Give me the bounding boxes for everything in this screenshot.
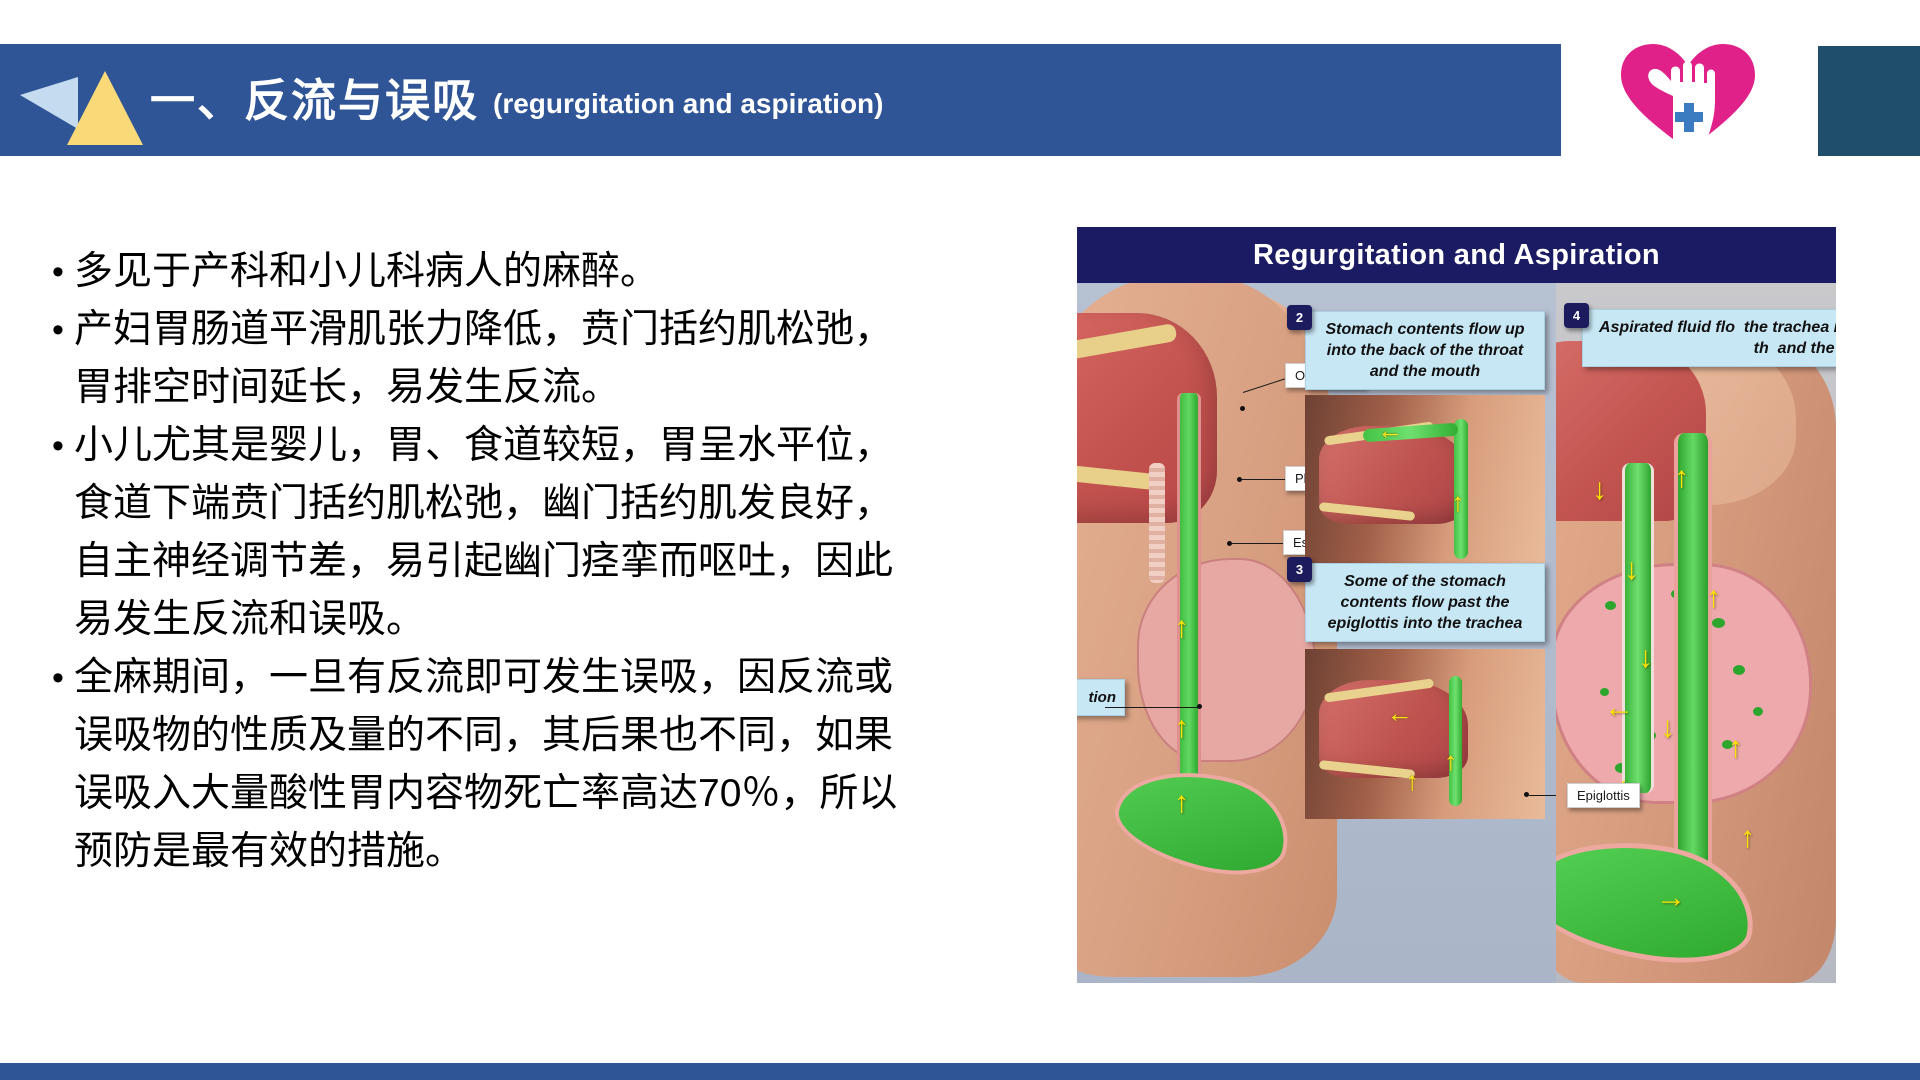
caption-step-4: Aspirated fluid flo the trachea into th … bbox=[1582, 309, 1836, 367]
flow-arrow-up-icon: ↑ bbox=[1406, 768, 1419, 794]
bullet-line: 食道下端贲门括约肌松弛，幽门括约肌发良好， bbox=[74, 475, 1052, 533]
leader-dot bbox=[1524, 792, 1529, 797]
caption-step-3: Some of the stomach contents flow past t… bbox=[1305, 563, 1545, 642]
flow-arrow-up-icon: ↑ bbox=[1174, 713, 1189, 743]
inset-green-tube-3 bbox=[1449, 676, 1462, 806]
bullet-line: 产妇胃肠道平滑肌张力降低，贲门括约肌松弛， bbox=[74, 301, 1052, 359]
illustration-title: Regurgitation and Aspiration bbox=[1077, 227, 1836, 283]
label-epiglottis: Epiglottis bbox=[1567, 783, 1640, 808]
bullet-line: 全麻期间，一旦有反流即可发生误吸，因反流或 bbox=[74, 649, 1052, 707]
flow-arrow-right-icon: → bbox=[1656, 883, 1686, 913]
flow-arrow-down-icon: ↓ bbox=[1638, 643, 1653, 673]
list-item: • 产妇胃肠道平滑肌张力降低，贲门括约肌松弛， 胃排空时间延长，易发生反流。 bbox=[52, 301, 1052, 417]
flow-arrow-left-icon: ← bbox=[1604, 693, 1634, 723]
anatomy-lung bbox=[1137, 558, 1316, 762]
anatomy-esophagus-4 bbox=[1674, 433, 1712, 873]
step-badge-4: 4 bbox=[1564, 303, 1589, 328]
anatomy-trachea bbox=[1149, 463, 1165, 583]
bullet-line: 误吸入大量酸性胃内容物死亡率高达70％，所以 bbox=[74, 765, 1052, 823]
flow-arrow-up-icon: ↑ bbox=[1740, 823, 1755, 853]
flow-arrow-down-icon: ↓ bbox=[1660, 713, 1675, 743]
flow-arrow-down-icon: ↓ bbox=[1592, 475, 1607, 505]
bullet-marker-icon: • bbox=[52, 301, 74, 359]
caption-step-2: Stomach contents flow up into the back o… bbox=[1305, 311, 1545, 390]
anatomy-trachea-4 bbox=[1622, 463, 1654, 793]
page-title-chinese: 一、反流与误吸 bbox=[150, 78, 479, 123]
bullet-line: 预防是最有效的措施。 bbox=[74, 823, 1052, 881]
page-title-english: (regurgitation and aspiration) bbox=[493, 88, 883, 120]
medical-illustration: Regurgitation and Aspiration ↑ ↑ ↑ Oral … bbox=[1077, 227, 1836, 983]
slide-body-bullet-list: • 多见于产科和小儿科病人的麻醉。 • 产妇胃肠道平滑肌张力降低，贲门括约肌松弛… bbox=[52, 243, 1052, 881]
flow-arrow-up-icon: ↑ bbox=[1451, 489, 1464, 515]
bullet-marker-icon: • bbox=[52, 649, 74, 707]
anatomy-figure-panel-4: ↓ ↑ ↓ ↑ ↓ ← ↓ ↑ ← ↑ → bbox=[1556, 283, 1836, 983]
illustration-title-bar: Regurgitation and Aspiration bbox=[1077, 227, 1836, 283]
flow-arrow-up-icon: ↑ bbox=[1674, 463, 1689, 493]
inset-panel-3: ← ↑ ↑ bbox=[1305, 649, 1545, 819]
step-badge-2: 2 bbox=[1287, 305, 1312, 330]
triangle-up-icon bbox=[67, 71, 143, 145]
leader-line bbox=[1241, 479, 1287, 480]
inset-panel-2: ← ↑ bbox=[1305, 395, 1545, 565]
list-item: • 多见于产科和小儿科病人的麻醉。 bbox=[52, 243, 1052, 301]
flow-arrow-down-icon: ↓ bbox=[1624, 555, 1639, 585]
flow-arrow-up-icon: ↑ bbox=[1174, 788, 1189, 818]
bullet-line: 小儿尤其是婴儿，胃、食道较短，胃呈水平位， bbox=[74, 417, 1052, 475]
flow-arrow-up-icon: ↑ bbox=[1444, 748, 1457, 774]
bullet-marker-icon: • bbox=[52, 417, 74, 475]
step-badge-3: 3 bbox=[1287, 557, 1312, 582]
leader-dot bbox=[1197, 704, 1202, 709]
slide-footer-bar bbox=[0, 1063, 1920, 1080]
list-item: • 全麻期间，一旦有反流即可发生误吸，因反流或 误吸物的性质及量的不同，其后果也… bbox=[52, 649, 1052, 881]
flow-arrow-up-icon: ↑ bbox=[1728, 733, 1743, 763]
header-decorative-icons bbox=[0, 44, 150, 156]
bullet-line: 多见于产科和小儿科病人的麻醉。 bbox=[74, 243, 1052, 301]
bullet-line: 胃排空时间延长，易发生反流。 bbox=[74, 359, 1052, 417]
slide-header-bar: 一、反流与误吸 (regurgitation and aspiration) bbox=[0, 44, 1561, 156]
cropped-caption-fragment: tion bbox=[1077, 679, 1125, 716]
cropped-caption-text: tion bbox=[1089, 689, 1117, 706]
leader-line bbox=[1105, 707, 1200, 708]
leader-line bbox=[1231, 543, 1285, 544]
list-item: • 小儿尤其是婴儿，胃、食道较短，胃呈水平位， 食道下端贲门括约肌松弛，幽门括约… bbox=[52, 417, 1052, 649]
flow-arrow-left-icon: ← bbox=[1377, 417, 1403, 443]
flow-arrow-up-icon: ↑ bbox=[1706, 583, 1721, 613]
flow-arrow-up-icon: ↑ bbox=[1174, 613, 1189, 643]
bullet-marker-icon: • bbox=[52, 243, 74, 301]
illustration-canvas: ↑ ↑ ↑ Oral cavity Pharynx Esophagus tion… bbox=[1077, 283, 1836, 983]
header-corner-accent-block bbox=[1818, 46, 1920, 156]
heart-hand-cross-logo bbox=[1613, 38, 1763, 156]
bullet-line: 自主神经调节差，易引起幽门痉挛而呕吐，因此 bbox=[74, 533, 1052, 591]
flow-arrow-left-icon: ← bbox=[1387, 700, 1413, 726]
leader-dot bbox=[1240, 406, 1245, 411]
bullet-line: 误吸物的性质及量的不同，其后果也不同，如果 bbox=[74, 707, 1052, 765]
bullet-line: 易发生反流和误吸。 bbox=[74, 591, 1052, 649]
